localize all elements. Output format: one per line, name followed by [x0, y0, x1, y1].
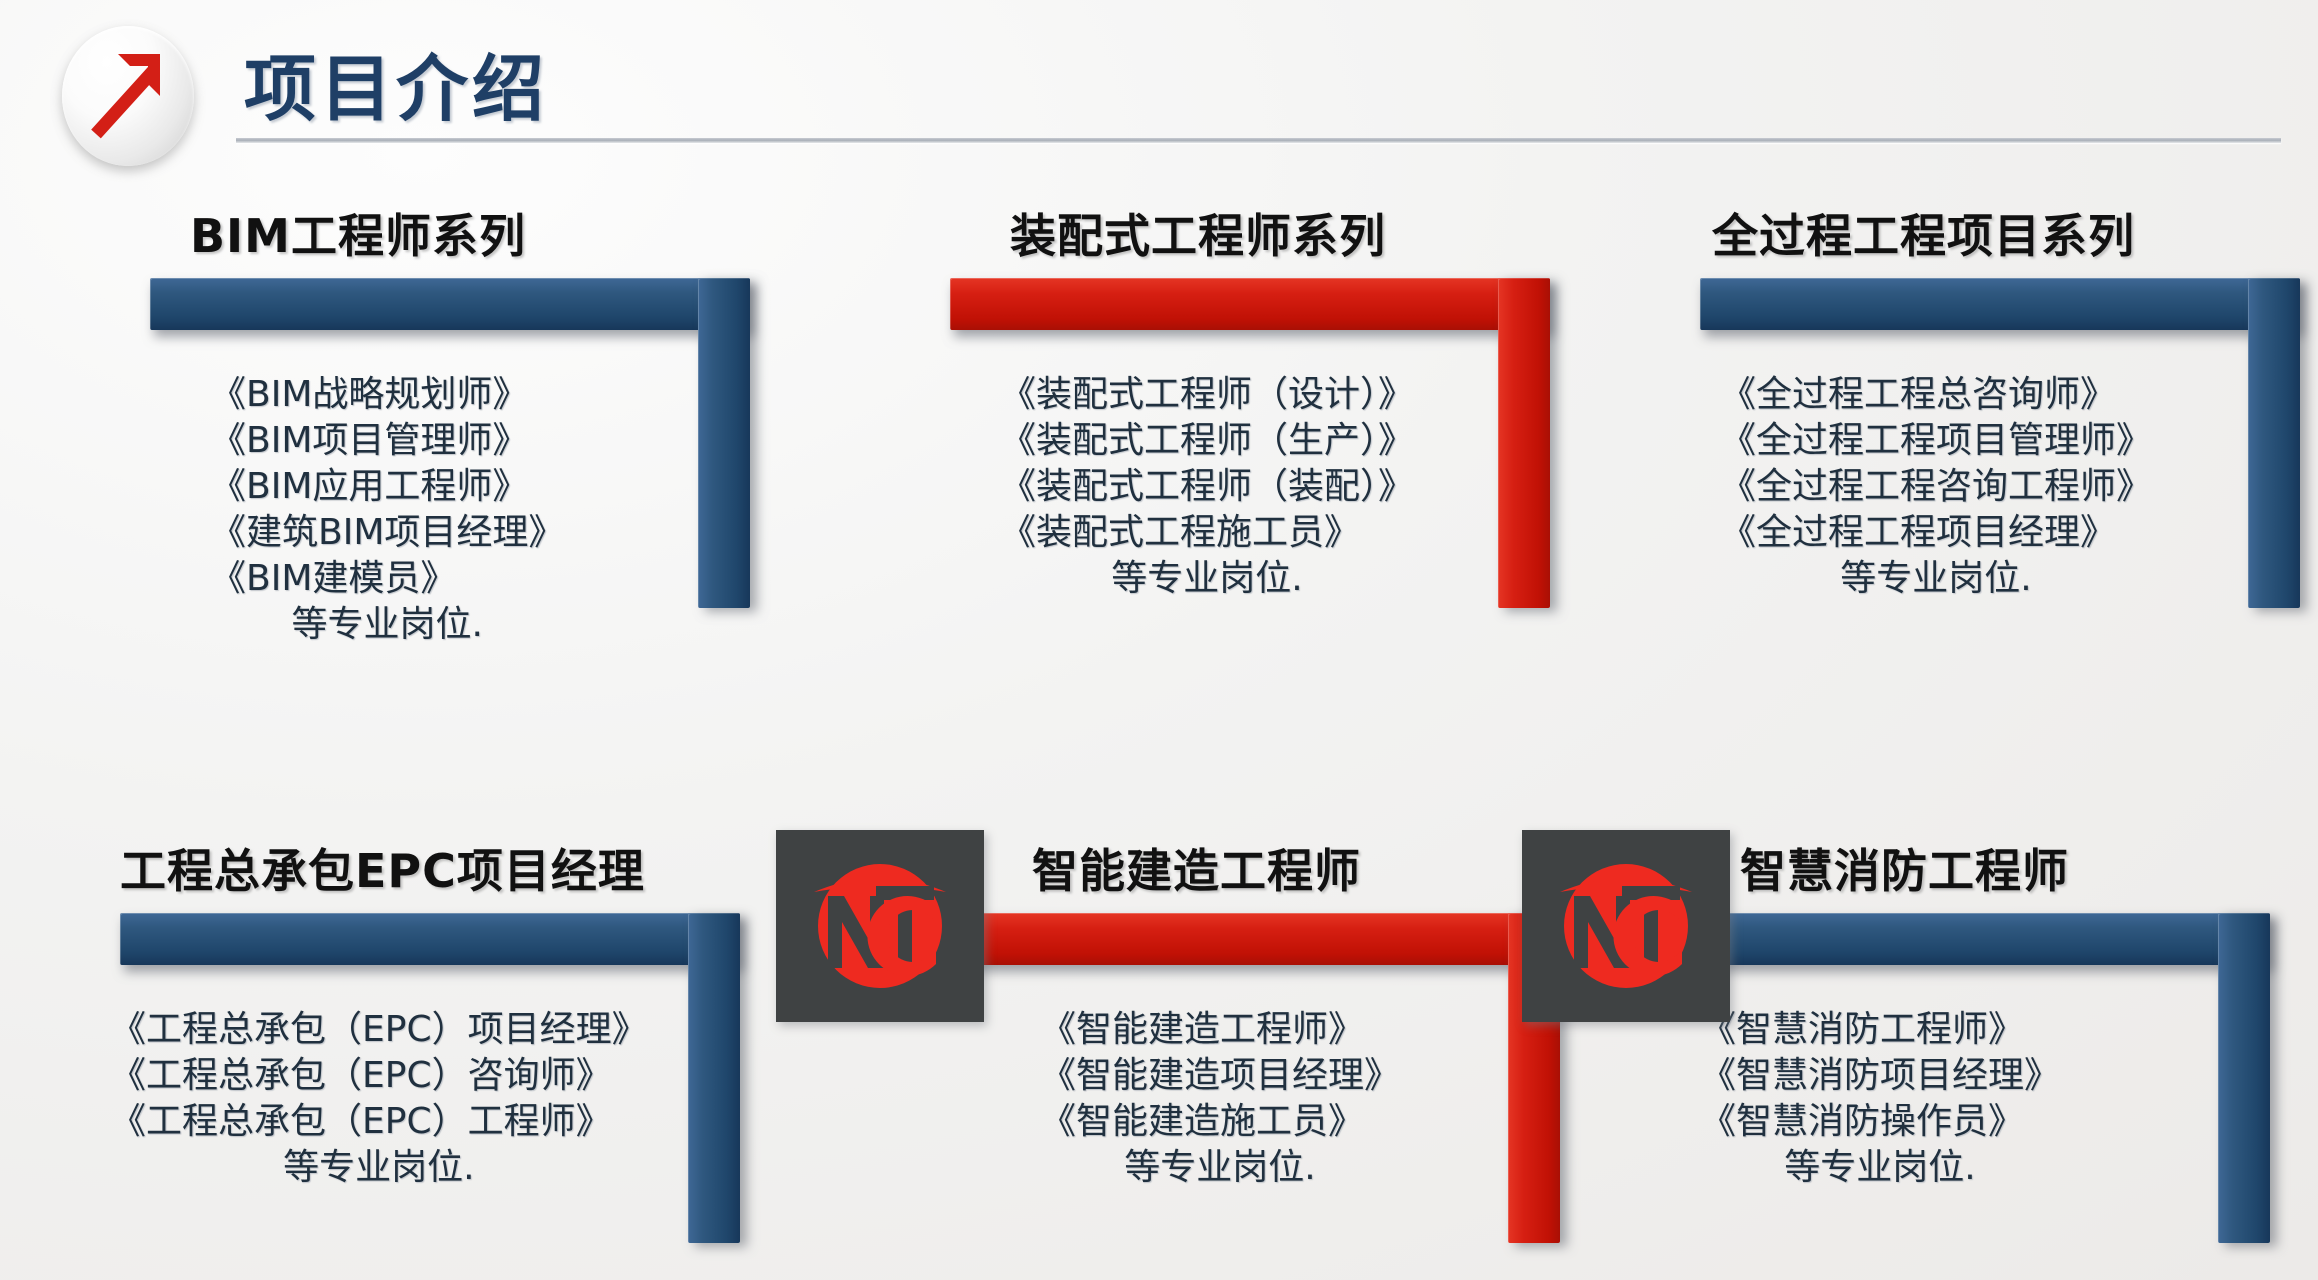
bracket-horizontal-bar	[1700, 278, 2300, 330]
card-item-list: 《全过程工程总咨询师》 《全过程工程项目管理师》 《全过程工程咨询工程师》 《全…	[1720, 372, 2152, 602]
slide-header: 项目介绍	[0, 0, 2318, 190]
list-item: 《BIM项目管理师》	[210, 418, 564, 464]
list-item: 《BIM应用工程师》	[210, 464, 564, 510]
cards-grid: BIM工程师系列 《BIM战略规划师》 《BIM项目管理师》 《BIM应用工程师…	[0, 190, 2318, 1280]
list-item: 《智能建造施工员》	[1040, 1099, 1400, 1145]
bracket-vertical-bar	[688, 913, 740, 1243]
bracket-horizontal-bar	[1670, 913, 2270, 965]
list-item: 《BIM建模员》	[210, 556, 564, 602]
card-item-list: 《智能建造工程师》 《智能建造项目经理》 《智能建造施工员》 等专业岗位.	[1040, 1007, 1400, 1191]
card-title: 全过程工程项目系列	[1712, 200, 2135, 266]
card-title: 智能建造工程师	[1032, 835, 1361, 901]
list-item: 《工程总承包（EPC）咨询师》	[110, 1053, 648, 1099]
list-tail: 等专业岗位.	[210, 602, 564, 648]
card-item-list: 《BIM战略规划师》 《BIM项目管理师》 《BIM应用工程师》 《建筑BIM项…	[210, 372, 564, 648]
list-tail: 等专业岗位.	[1700, 1145, 2060, 1191]
bracket-horizontal-bar	[150, 278, 750, 330]
ntc-logo-tile	[776, 830, 984, 1022]
card-item-list: 《装配式工程师（设计）》 《装配式工程师（生产）》 《装配式工程师（装配）》 《…	[1000, 372, 1414, 602]
page-title: 项目介绍	[244, 30, 548, 135]
bracket-horizontal-bar	[960, 913, 1560, 965]
list-item: 《智能建造项目经理》	[1040, 1053, 1400, 1099]
list-item: 《BIM战略规划师》	[210, 372, 564, 418]
list-tail: 等专业岗位.	[1040, 1145, 1400, 1191]
bracket-horizontal-bar	[950, 278, 1550, 330]
list-item: 《全过程工程总咨询师》	[1720, 372, 2152, 418]
card-item-list: 《工程总承包（EPC）项目经理》 《工程总承包（EPC）咨询师》 《工程总承包（…	[110, 1007, 648, 1191]
slide-root: 项目介绍 BIM工程师系列 《BIM战略规划师》 《BIM项目管理师》 《BIM…	[0, 0, 2318, 1280]
header-divider	[236, 138, 2281, 143]
card-title: 智慧消防工程师	[1740, 835, 2069, 901]
list-item: 《建筑BIM项目经理》	[210, 510, 564, 556]
bracket-vertical-bar	[698, 278, 750, 608]
list-item: 《装配式工程师（生产）》	[1000, 418, 1414, 464]
header-badge	[62, 26, 194, 166]
list-item: 《全过程工程项目经理》	[1720, 510, 2152, 556]
bracket-horizontal-bar	[120, 913, 740, 965]
list-item: 《智慧消防操作员》	[1700, 1099, 2060, 1145]
bracket-vertical-bar	[1498, 278, 1550, 608]
bracket-vertical-bar	[2218, 913, 2270, 1243]
list-item: 《全过程工程项目管理师》	[1720, 418, 2152, 464]
list-item: 《智能建造工程师》	[1040, 1007, 1400, 1053]
list-item: 《装配式工程施工员》	[1000, 510, 1414, 556]
list-item: 《装配式工程师（设计）》	[1000, 372, 1414, 418]
list-item: 《智慧消防项目经理》	[1700, 1053, 2060, 1099]
list-item: 《装配式工程师（装配）》	[1000, 464, 1414, 510]
list-item: 《工程总承包（EPC）项目经理》	[110, 1007, 648, 1053]
ntc-logo-tile	[1522, 830, 1730, 1022]
list-tail: 等专业岗位.	[1720, 556, 2152, 602]
card-item-list: 《智慧消防工程师》 《智慧消防项目经理》 《智慧消防操作员》 等专业岗位.	[1700, 1007, 2060, 1191]
card-title: 工程总承包EPC项目经理	[120, 835, 645, 901]
list-item: 《工程总承包（EPC）工程师》	[110, 1099, 648, 1145]
bracket-vertical-bar	[2248, 278, 2300, 608]
list-item: 《智慧消防工程师》	[1700, 1007, 2060, 1053]
card-title: 装配式工程师系列	[1010, 200, 1386, 266]
list-tail: 等专业岗位.	[1000, 556, 1414, 602]
card-title: BIM工程师系列	[190, 200, 526, 266]
list-item: 《全过程工程咨询工程师》	[1720, 464, 2152, 510]
list-tail: 等专业岗位.	[110, 1145, 648, 1191]
